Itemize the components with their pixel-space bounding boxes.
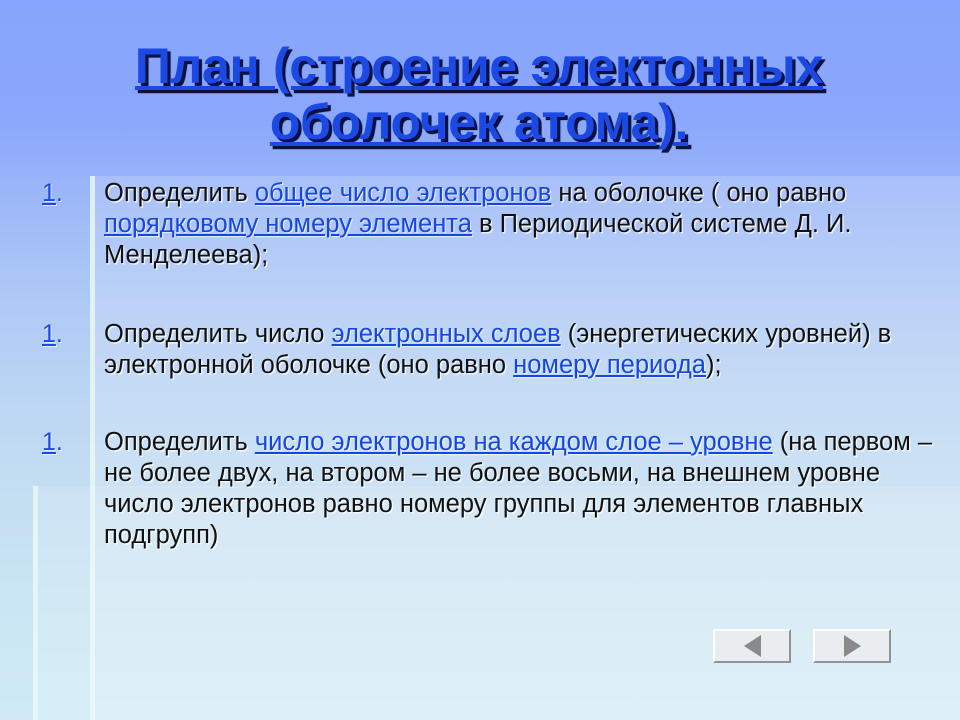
list-item-marker-suffix: . — [56, 320, 63, 348]
list-item-text: Определить общее число электронов на обо… — [92, 178, 934, 271]
list-item: 1. Определить число электронов на каждом… — [34, 427, 934, 551]
list-item-marker: 1. — [34, 178, 92, 208]
text-run: Определить число — [104, 320, 332, 348]
list-item-marker-number: 1 — [42, 428, 56, 456]
list-spacer — [34, 271, 934, 319]
list-item: 1. Определить общее число электронов на … — [34, 178, 934, 271]
text-run: Определить — [104, 179, 255, 207]
slide-title: План (строение электонных оболочек атома… — [30, 38, 928, 150]
list-item-marker-suffix: . — [56, 428, 63, 456]
highlighted-term: номеру периода — [513, 351, 706, 379]
previous-slide-button[interactable] — [713, 629, 791, 663]
highlighted-term: порядковому номеру элемента — [104, 210, 472, 238]
list-spacer — [34, 381, 934, 427]
highlighted-term: общее число электронов — [255, 179, 551, 207]
text-run: на оболочке ( оно равно — [551, 179, 846, 207]
numbered-list: 1. Определить общее число электронов на … — [34, 178, 934, 551]
list-item-marker-number: 1 — [42, 320, 56, 348]
highlighted-term: электронных слоев — [332, 320, 561, 348]
text-run: ); — [706, 351, 722, 379]
triangle-right-icon — [844, 635, 861, 657]
list-item: 1. Определить число электронных слоев (э… — [34, 319, 934, 381]
text-run: Определить — [104, 428, 255, 456]
triangle-left-icon — [744, 635, 761, 657]
list-item-text: Определить число электронов на каждом сл… — [92, 427, 934, 551]
list-item-marker-number: 1 — [42, 179, 56, 207]
list-item-marker: 1. — [34, 427, 92, 457]
next-slide-button[interactable] — [813, 629, 891, 663]
highlighted-term: число электронов на каждом слое – уровне — [255, 428, 773, 456]
list-item-marker: 1. — [34, 319, 92, 349]
presentation-slide: План (строение электонных оболочек атома… — [0, 0, 960, 720]
list-item-marker-suffix: . — [56, 179, 63, 207]
list-item-text: Определить число электронных слоев (энер… — [92, 319, 934, 381]
slide-navigation — [713, 629, 891, 663]
